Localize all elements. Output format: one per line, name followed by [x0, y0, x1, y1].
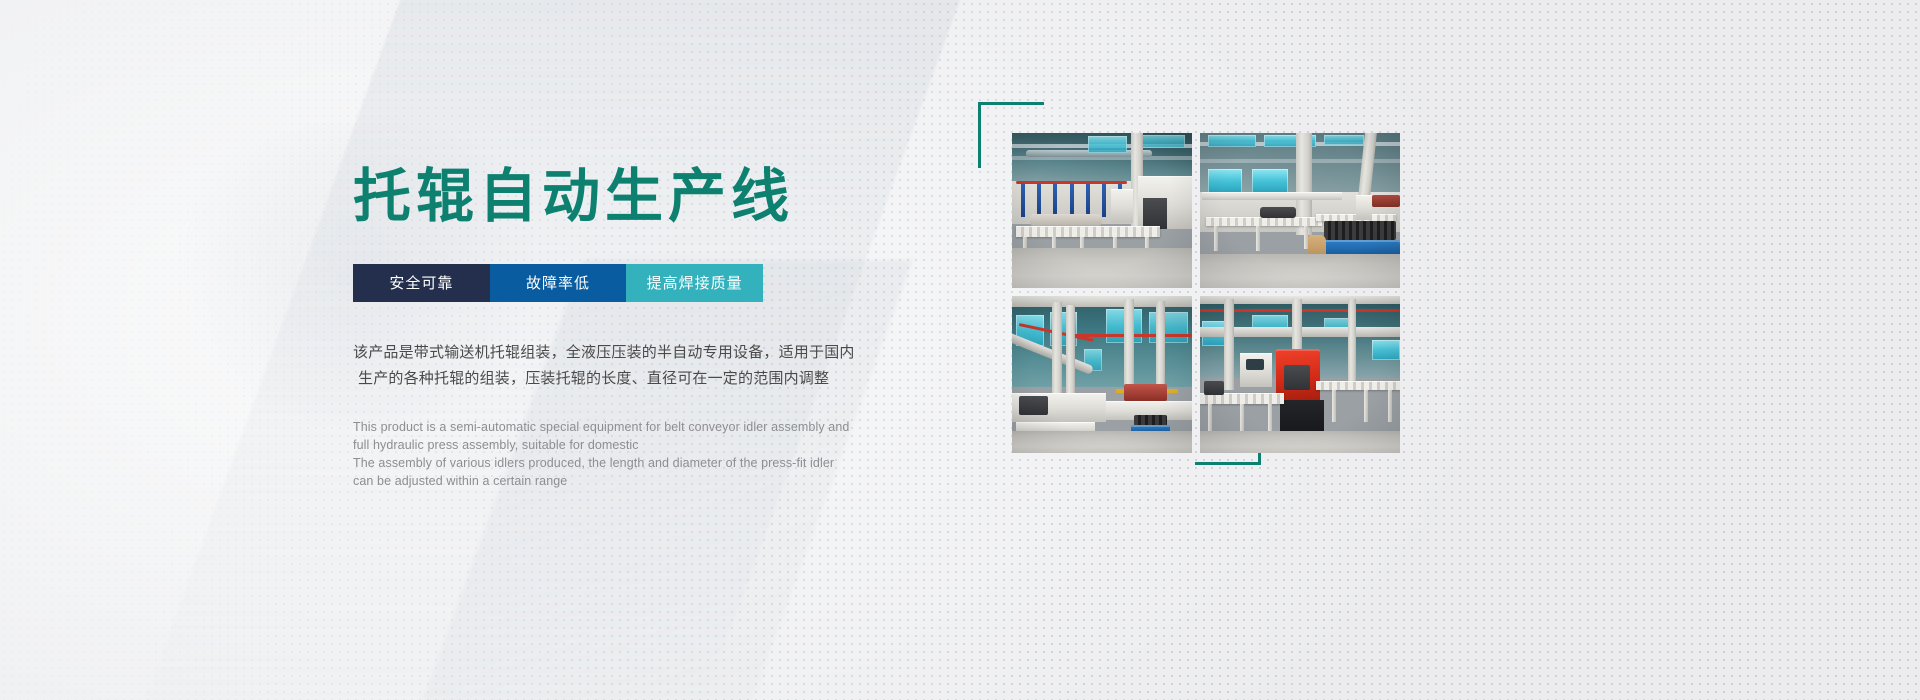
photo-gallery [978, 100, 1478, 570]
gallery-photo-3[interactable] [1012, 296, 1192, 453]
feature-tag-weld-quality[interactable]: 提高焊接质量 [626, 264, 763, 302]
gallery-photo-4[interactable] [1200, 296, 1400, 453]
banner-text-column: 托辊自动生产线 安全可靠 故障率低 提高焊接质量 该产品是带式输送机托辊组装，全… [353, 168, 973, 490]
photo-grid [1012, 133, 1412, 453]
description-english-line-3: The assembly of various idlers produced,… [353, 454, 893, 472]
page-title: 托辊自动生产线 [353, 168, 973, 226]
feature-tag-bar: 安全可靠 故障率低 提高焊接质量 [353, 264, 763, 302]
product-banner: 托辊自动生产线 安全可靠 故障率低 提高焊接质量 该产品是带式输送机托辊组装，全… [0, 0, 1920, 700]
feature-tag-low-failure[interactable]: 故障率低 [490, 264, 627, 302]
gallery-photo-1[interactable] [1012, 133, 1192, 288]
description-chinese: 该产品是带式输送机托辊组装，全液压压装的半自动专用设备，适用于国内 生产的各种托… [353, 340, 913, 392]
description-english-line-1: This product is a semi-automatic special… [353, 418, 893, 436]
description-english-line-2: full hydraulic press assembly, suitable … [353, 436, 893, 454]
description-english: This product is a semi-automatic special… [353, 418, 893, 490]
description-chinese-line-1: 该产品是带式输送机托辊组装，全液压压装的半自动专用设备，适用于国内 [353, 340, 913, 366]
gallery-photo-2[interactable] [1200, 133, 1400, 288]
description-chinese-line-2: 生产的各种托辊的组装，压装托辊的长度、直径可在一定的范围内调整 [353, 366, 913, 392]
feature-tag-safety[interactable]: 安全可靠 [353, 264, 490, 302]
description-english-line-4: can be adjusted within a certain range [353, 472, 893, 490]
